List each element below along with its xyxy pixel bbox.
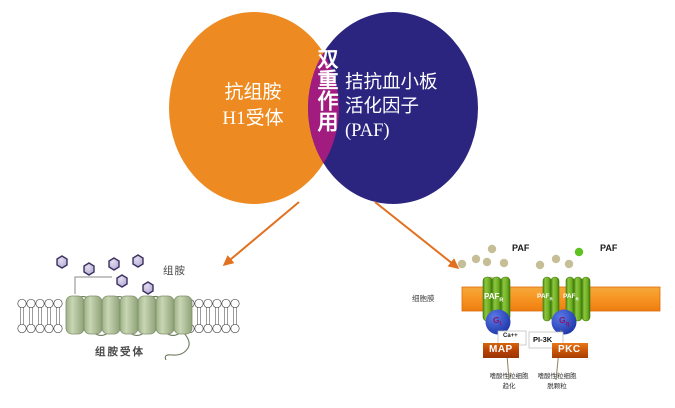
g-protein-left-subscript: i (500, 322, 502, 328)
g-protein-right-subscript: q (566, 322, 570, 328)
paf-receptor-right-a-name: PAF (537, 293, 550, 300)
paf-receptor-right-b-name: PAF (563, 293, 576, 300)
g-protein-left-label: Gi (493, 315, 501, 328)
g-protein-left-name: G (493, 315, 500, 325)
paf-receptor-left-label: PAFR (484, 292, 503, 304)
paf-receptor-left-subscript: R (499, 298, 503, 304)
paf-receptor-left-name: PAF (484, 292, 499, 301)
paf-outcome-right: 嗜酸性粒细胞 脱颗粒 (524, 372, 590, 392)
g-protein-right-label: Gq (559, 315, 569, 328)
calcium-label: Ca++ (503, 333, 518, 339)
paf-outcome-right-line1: 嗜酸性粒细胞 (524, 372, 590, 382)
paf-outcome-right-line2: 脱颗粒 (524, 382, 590, 392)
paf-ligand-label-left: PAF (512, 243, 529, 253)
paf-receptor-right-a-label: PAFR (537, 293, 553, 301)
paf-receptor-right-a-subscript: R (550, 296, 553, 301)
pkc-label: PKC (558, 344, 581, 355)
g-protein-right-name: G (559, 315, 566, 325)
paf-ligand-label-right: PAF (600, 243, 617, 253)
diagram-canvas: 抗组胺 H1受体 拮抗血小板 活化因子 (PAF) 双重作用 (0, 0, 675, 408)
cell-membrane-label: 细胞膜 (412, 293, 435, 304)
paf-receptor-right-b-label: PAFR (563, 293, 579, 301)
pi3k-label: PI-3K (533, 335, 552, 344)
paf-receptor-right-b-subscript: R (576, 296, 579, 301)
map-label: MAP (489, 344, 513, 355)
